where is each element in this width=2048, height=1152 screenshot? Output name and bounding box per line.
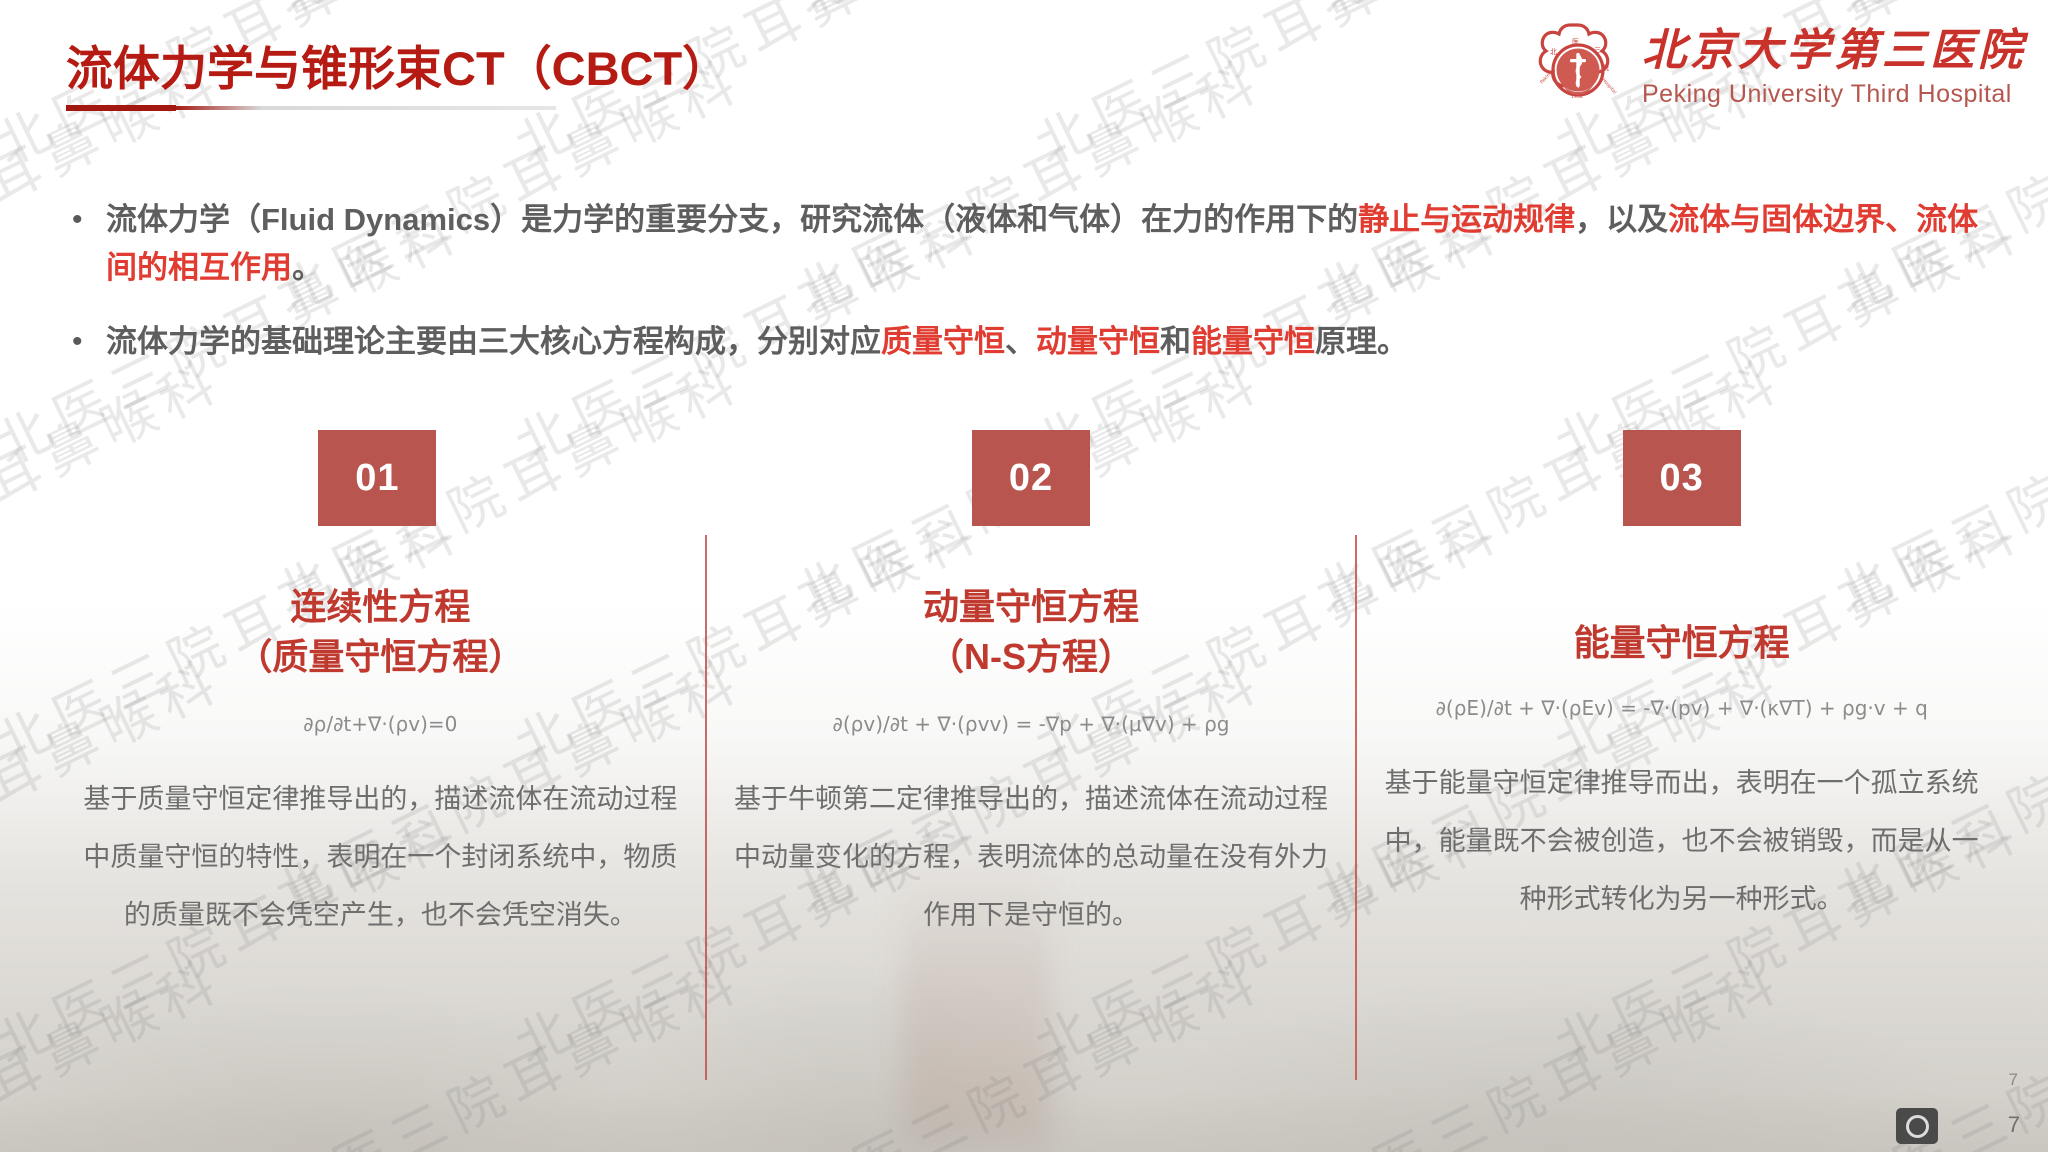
column-description: 基于能量守恒定律推导而出，表明在一个孤立系统中，能量既不会被创造，也不会被销毁，… <box>1383 754 1980 928</box>
svg-text:医: 医 <box>1572 38 1579 46</box>
equation-column: 03能量守恒方程∂(ρE)/∂t + ∇·(ρEv) = -∇·(pv) + ∇… <box>1357 430 2006 1130</box>
plain-phrase: 。 <box>292 250 323 285</box>
step-badge: 01 <box>318 430 436 526</box>
svg-text:院: 院 <box>1602 63 1609 72</box>
step-badge: 02 <box>972 430 1090 526</box>
watermark-text: 北医三院耳鼻喉科 <box>780 0 1275 31</box>
watermark-text: 北医三院耳鼻喉科 <box>1020 0 1515 181</box>
bullet-text: 流体力学（Fluid Dynamics）是力学的重要分支，研究流体（液体和气体）… <box>106 196 2002 292</box>
page-title: 流体力学与锥形束CT（CBCT） <box>66 30 729 99</box>
page-number: 7 <box>2008 1112 2020 1138</box>
plain-phrase: 流体力学的基础理论主要由三大核心方程构成，分别对应 <box>106 324 881 359</box>
highlight-phrase: 质量守恒 <box>881 324 1005 359</box>
plain-phrase: ，以及 <box>1575 202 1668 237</box>
column-description: 基于质量守恒定律推导出的，描述流体在流动过程中质量守恒的特性，表明在一个封闭系统… <box>82 770 679 944</box>
equation-formula: ∂(ρv)/∂t + ∇·(ρvv) = -∇p + ∇·(μ∇v) + ρg <box>833 712 1230 736</box>
page-number-small: 7 <box>2009 1070 2018 1090</box>
plain-phrase: 、 <box>1005 324 1036 359</box>
hospital-seal-icon: 北医三院 Peking Hospital 1958 <box>1528 18 1628 118</box>
title-underline <box>66 106 556 110</box>
svg-text:1958: 1958 <box>1571 94 1583 100</box>
bullet-item: •流体力学（Fluid Dynamics）是力学的重要分支，研究流体（液体和气体… <box>62 196 2002 292</box>
bullet-marker-icon: • <box>62 196 106 244</box>
plain-phrase: 原理。 <box>1315 324 1408 359</box>
camera-icon <box>1896 1108 1938 1144</box>
bullet-item: •流体力学的基础理论主要由三大核心方程构成，分别对应质量守恒、动量守恒和能量守恒… <box>62 318 2002 366</box>
equation-formula: ∂ρ/∂t+∇·(ρv)=0 <box>303 712 457 736</box>
svg-text:北: 北 <box>1550 48 1557 56</box>
highlight-phrase: 动量守恒 <box>1036 324 1160 359</box>
highlight-phrase: 能量守恒 <box>1191 324 1315 359</box>
bullet-text: 流体力学的基础理论主要由三大核心方程构成，分别对应质量守恒、动量守恒和能量守恒原… <box>106 318 1408 366</box>
equation-columns: 01连续性方程（质量守恒方程）∂ρ/∂t+∇·(ρv)=0基于质量守恒定律推导出… <box>56 430 2006 1130</box>
equation-column: 02动量守恒方程（N-S方程）∂(ρv)/∂t + ∇·(ρvv) = -∇p … <box>707 430 1356 1130</box>
equation-formula: ∂(ρE)/∂t + ∇·(ρEv) = -∇·(pv) + ∇·(κ∇T) +… <box>1436 696 1928 720</box>
column-heading: 能量守恒方程 <box>1574 618 1790 668</box>
plain-phrase: 流体力学（Fluid Dynamics）是力学的重要分支，研究流体（液体和气体）… <box>106 202 1358 237</box>
svg-text:三: 三 <box>1594 46 1601 54</box>
slide-canvas: 北医三院耳鼻喉科北医三院耳鼻喉科北医三院耳鼻喉科北医三院耳鼻喉科北医三院耳鼻喉科… <box>0 0 2048 1152</box>
column-heading: 动量守恒方程（N-S方程） <box>923 582 1139 682</box>
svg-text:Hospital: Hospital <box>1601 77 1618 95</box>
bullet-list: •流体力学（Fluid Dynamics）是力学的重要分支，研究流体（液体和气体… <box>62 196 2002 392</box>
plain-phrase: 和 <box>1160 324 1191 359</box>
watermark-text: 北医三院耳鼻喉科 <box>0 0 235 31</box>
step-badge: 03 <box>1623 430 1741 526</box>
hospital-name-cn: 北京大学第三医院 <box>1642 29 2026 73</box>
column-description: 基于牛顿第二定律推导出的，描述流体在流动过程中动量变化的方程，表明流体的总动量在… <box>733 770 1330 944</box>
highlight-phrase: 静止与运动规律 <box>1358 202 1575 237</box>
watermark-text: 北医三院耳鼻喉科 <box>260 0 755 31</box>
bullet-marker-icon: • <box>62 318 106 366</box>
hospital-logo: 北医三院 Peking Hospital 1958 北京大学第三医院 Pekin… <box>1528 18 2026 118</box>
hospital-name-en: Peking University Third Hospital <box>1642 82 2026 107</box>
column-heading: 连续性方程（质量守恒方程） <box>236 582 524 682</box>
equation-column: 01连续性方程（质量守恒方程）∂ρ/∂t+∇·(ρv)=0基于质量守恒定律推导出… <box>56 430 705 1130</box>
